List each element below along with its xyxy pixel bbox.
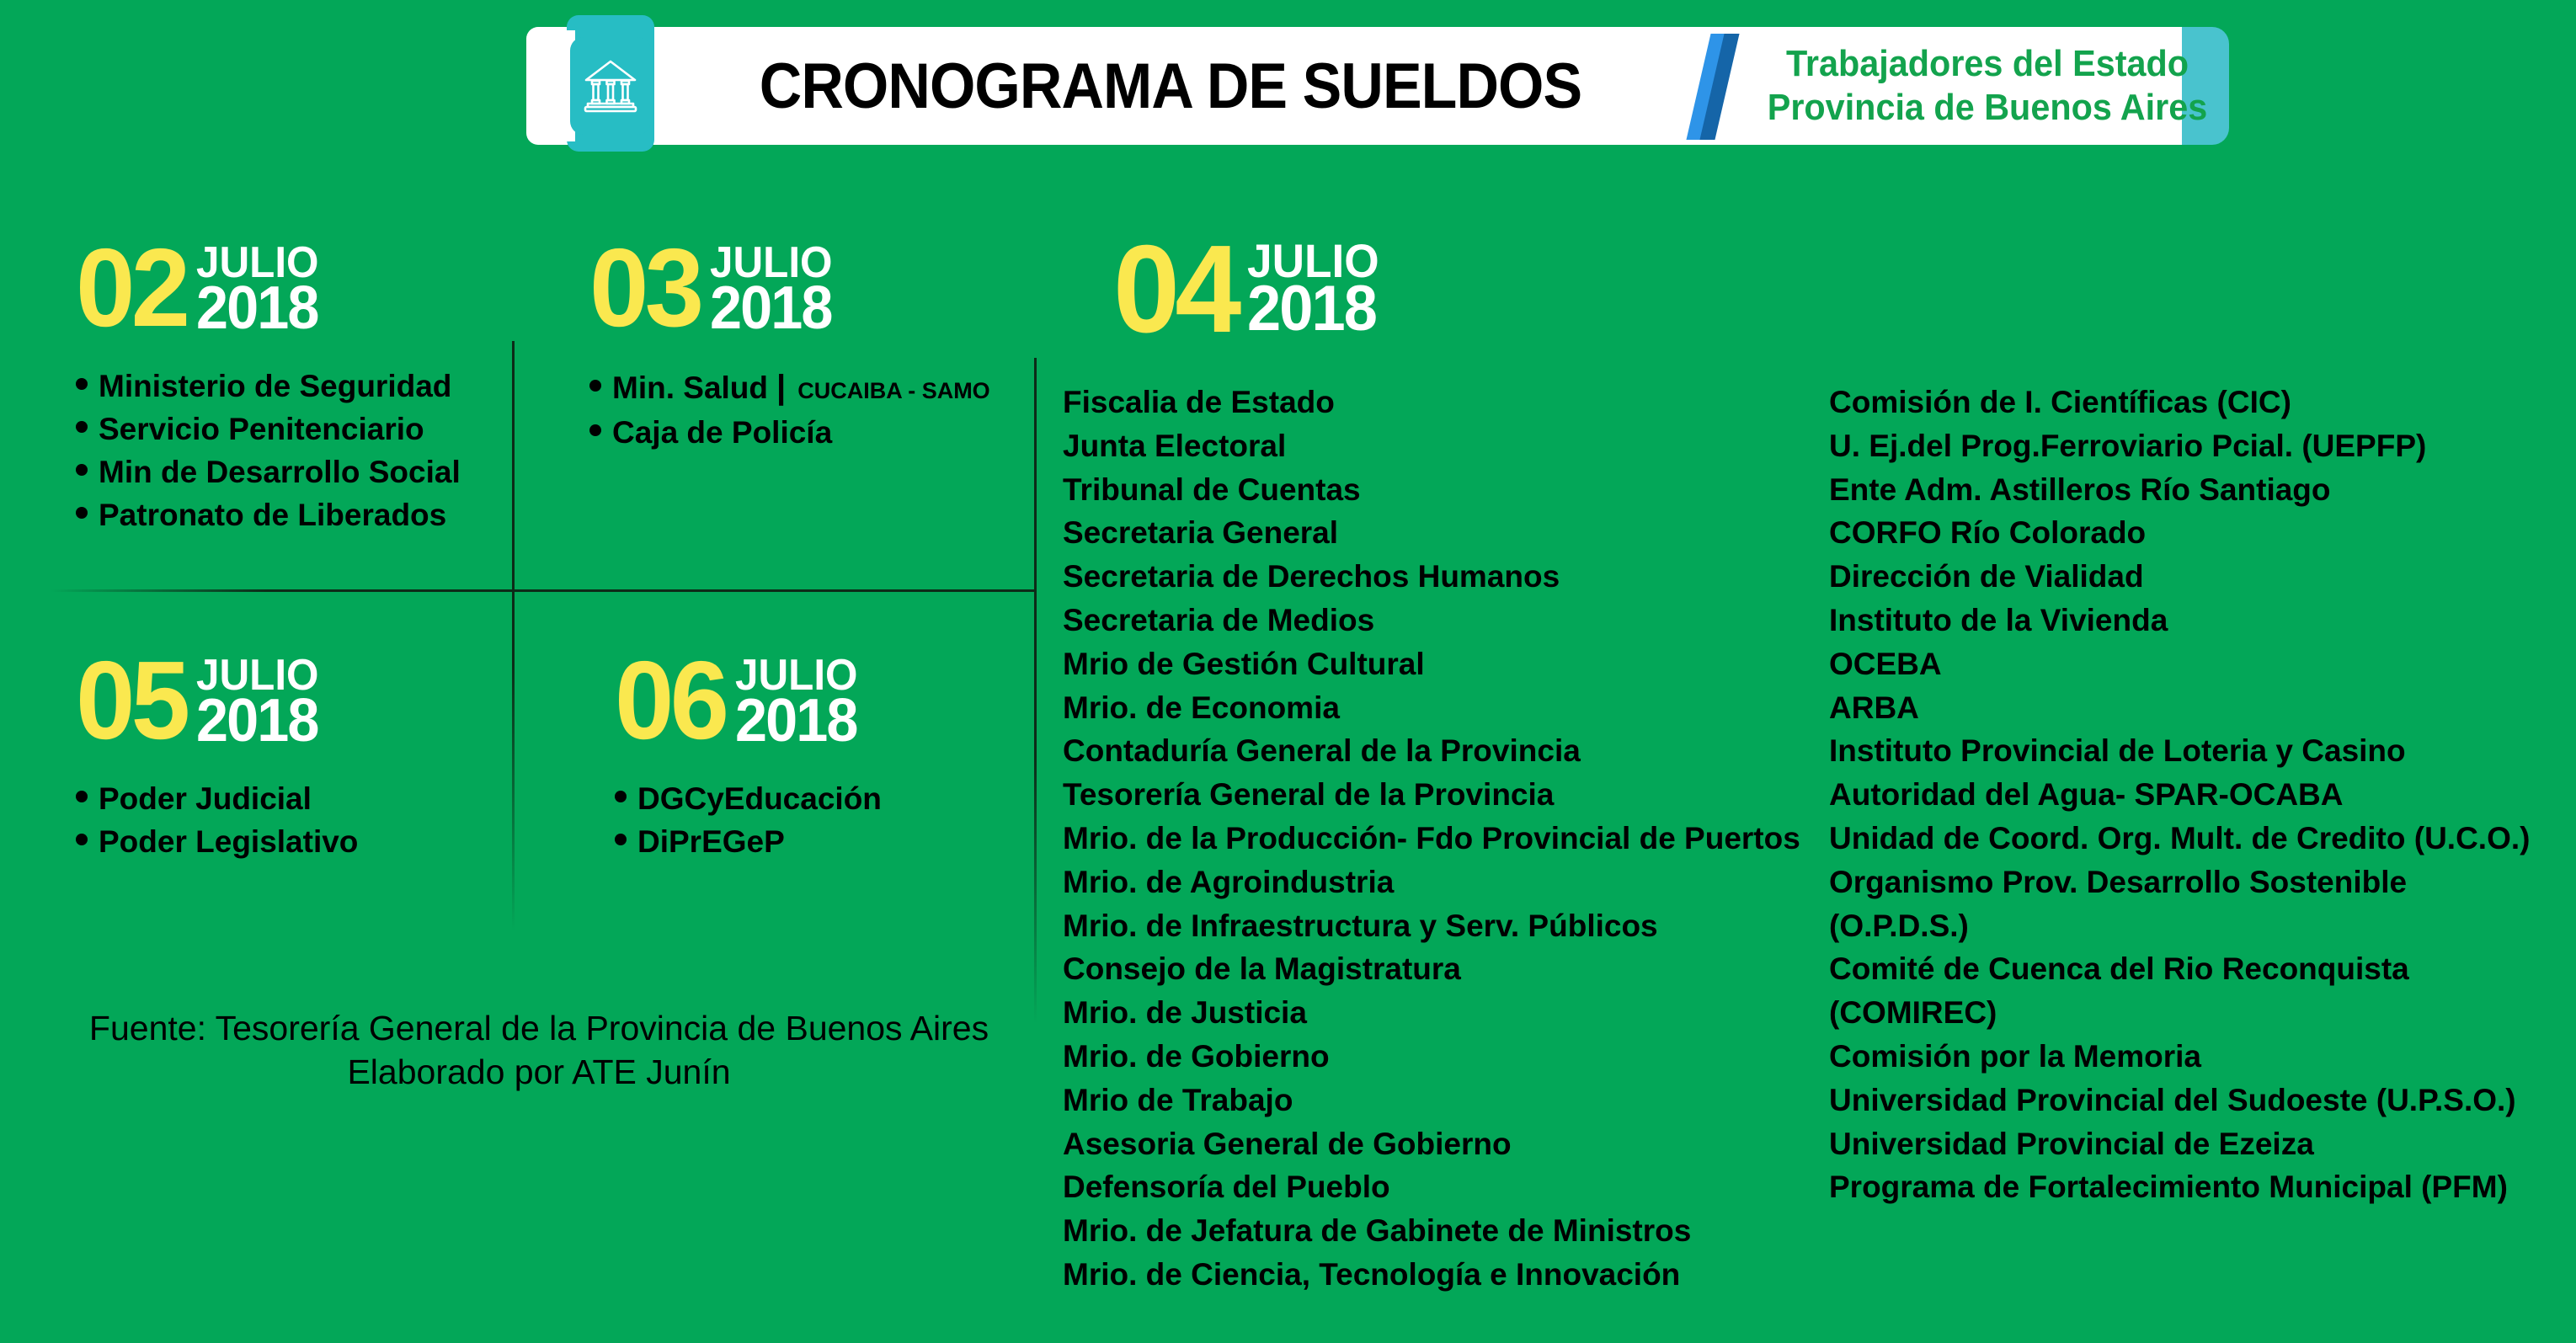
source-line-1: Fuente: Tesorería General de la Provinci… (89, 1009, 989, 1047)
list-item: Mrio de Gestión Cultural (1063, 642, 1829, 686)
list-item: Patronato de Liberados (76, 493, 461, 536)
page-title: CRONOGRAMA DE SUELDOS (717, 27, 1624, 145)
bullet-dot-icon (589, 424, 601, 436)
list-item: Instituto Provincial de Loteria y Casino (1829, 729, 2553, 773)
year-label: 2018 (710, 280, 832, 336)
list-item: Min de Desarrollo Social (76, 450, 461, 493)
list-item: Mrio. de Economia (1063, 686, 1829, 730)
list-item: Min. Salud | CUCAIBA - SAMO (589, 365, 990, 411)
list-item: CORFO Río Colorado (1829, 511, 2553, 555)
list-item: Consejo de la Magistratura (1063, 947, 1829, 991)
list-item-sublabel: CUCAIBA - SAMO (797, 376, 990, 407)
list-item: Organismo Prov. Desarrollo Sostenible (O… (1829, 861, 2553, 948)
list-item: Unidad de Coord. Org. Mult. de Credito (… (1829, 817, 2553, 861)
date-block-02: 02 JULIO 2018 Ministerio de Seguridad Se… (76, 240, 461, 536)
list-item: Instituto de la Vivienda (1829, 599, 2553, 642)
year-label: 2018 (196, 280, 318, 336)
organization-list: Poder Judicial Poder Legislativo (76, 777, 358, 863)
list-item-label: Caja de Policía (612, 411, 832, 454)
list-item: Tribunal de Cuentas (1063, 468, 1829, 512)
bullet-dot-icon (615, 834, 627, 845)
slash-divider-icon (1699, 34, 1749, 140)
date-block-03: 03 JULIO 2018 Min. Salud | CUCAIBA - SAM… (589, 240, 990, 454)
date-header: 03 JULIO 2018 (589, 240, 990, 336)
list-item: Ente Adm. Astilleros Río Santiago (1829, 468, 2553, 512)
year-label: 2018 (1247, 280, 1379, 338)
list-item-label: Servicio Penitenciario (99, 408, 424, 450)
list-item: Fiscalia de Estado (1063, 381, 1829, 424)
organization-list: Ministerio de Seguridad Servicio Peniten… (76, 365, 461, 536)
list-item: Secretaria de Medios (1063, 599, 1829, 642)
organization-column-right: Comisión de I. Científicas (CIC) U. Ej.d… (1829, 381, 2553, 1297)
list-item: Universidad Provincial del Sudoeste (U.P… (1829, 1079, 2553, 1122)
date-header: 05 JULIO 2018 (76, 653, 358, 749)
list-item: Defensoría del Pueblo (1063, 1165, 1829, 1209)
day-number: 03 (589, 240, 700, 336)
list-item: Programa de Fortalecimiento Municipal (P… (1829, 1165, 2553, 1209)
month-year: JULIO 2018 (196, 653, 325, 749)
bullet-dot-icon (76, 834, 88, 845)
date-block-05: 05 JULIO 2018 Poder Judicial Poder Legis… (76, 653, 358, 863)
year-label: 2018 (196, 693, 318, 749)
list-item-label: Min. Salud (612, 366, 768, 409)
list-item: Mrio de Trabajo (1063, 1079, 1829, 1122)
header-banner: CRONOGRAMA DE SUELDOS Trabajadores del E… (526, 27, 2217, 145)
horizontal-divider (51, 589, 1036, 592)
date-header: 04 JULIO 2018 (1113, 236, 1386, 343)
list-item: Universidad Provincial de Ezeiza (1829, 1122, 2553, 1166)
date-header: 02 JULIO 2018 (76, 240, 461, 336)
day-number: 02 (76, 240, 186, 336)
list-item-label: DiPrEGeP (637, 820, 785, 863)
organization-lists-04: Fiscalia de Estado Junta Electoral Tribu… (1063, 381, 2562, 1297)
bullet-dot-icon (76, 378, 88, 390)
banner-subtitle-line-1: Trabajadores del Estado (1786, 42, 2189, 86)
list-item: Secretaria de Derechos Humanos (1063, 555, 1829, 599)
list-item: Junta Electoral (1063, 424, 1829, 468)
list-item: Comité de Cuenca del Rio Reconquista (CO… (1829, 947, 2553, 1035)
bullet-dot-icon (76, 421, 88, 433)
list-item-label: Poder Judicial (99, 777, 312, 820)
bullet-dot-icon (76, 507, 88, 519)
month-year: JULIO 2018 (735, 653, 864, 749)
month-year: JULIO 2018 (196, 240, 325, 336)
list-item: Mrio. de Ciencia, Tecnología e Innovació… (1063, 1253, 1829, 1297)
bullet-dot-icon (76, 464, 88, 476)
list-item-label: DGCyEducación (637, 777, 882, 820)
vertical-divider-center (1034, 358, 1037, 1023)
organization-list: Min. Salud | CUCAIBA - SAMO Caja de Poli… (589, 365, 990, 454)
list-item: Mrio. de Gobierno (1063, 1035, 1829, 1079)
separator-pipe: | (776, 365, 786, 411)
list-item: Mrio. de Agroindustria (1063, 861, 1829, 904)
month-year: JULIO 2018 (710, 240, 839, 336)
date-block-06: 06 JULIO 2018 DGCyEducación DiPrEGeP (615, 653, 882, 863)
list-item: Poder Judicial (76, 777, 358, 820)
list-item-label: Ministerio de Seguridad (99, 365, 451, 408)
list-item: U. Ej.del Prog.Ferroviario Pcial. (UEPFP… (1829, 424, 2553, 468)
day-number: 06 (615, 653, 725, 749)
organization-list: DGCyEducación DiPrEGeP (615, 777, 882, 863)
list-item: DiPrEGeP (615, 820, 882, 863)
banner-subtitle: Trabajadores del Estado Provincia de Bue… (1778, 39, 2197, 133)
list-item-label: Min de Desarrollo Social (99, 450, 461, 493)
bullet-dot-icon (615, 791, 627, 802)
list-item: OCEBA (1829, 642, 2553, 686)
list-item: DGCyEducación (615, 777, 882, 820)
date-header: 06 JULIO 2018 (615, 653, 882, 749)
day-number: 05 (76, 653, 186, 749)
banner-subtitle-line-2: Provincia de Buenos Aires (1768, 86, 2208, 130)
list-item-label: Poder Legislativo (99, 820, 358, 863)
list-item: Secretaria General (1063, 511, 1829, 555)
list-item: Contaduría General de la Provincia (1063, 729, 1829, 773)
banner-white-left-edge (526, 30, 575, 141)
vertical-divider-left (512, 341, 515, 930)
year-label: 2018 (735, 693, 857, 749)
list-item: Tesorería General de la Provincia (1063, 773, 1829, 817)
organization-column-left: Fiscalia de Estado Junta Electoral Tribu… (1063, 381, 1829, 1297)
list-item: Comisión de I. Científicas (CIC) (1829, 381, 2553, 424)
bullet-dot-icon (589, 380, 601, 392)
bullet-dot-icon (76, 791, 88, 802)
bank-building-icon (570, 37, 651, 135)
list-item-label: Patronato de Liberados (99, 493, 446, 536)
source-line-2: Elaborado por ATE Junín (46, 1050, 1032, 1094)
list-item: Mrio. de Jefatura de Gabinete de Ministr… (1063, 1209, 1829, 1253)
list-item: Ministerio de Seguridad (76, 365, 461, 408)
list-item: ARBA (1829, 686, 2553, 730)
list-item: Caja de Policía (589, 411, 990, 454)
list-item: Asesoria General de Gobierno (1063, 1122, 1829, 1166)
list-item: Mrio. de la Producción- Fdo Provincial d… (1063, 817, 1829, 861)
list-item: Comisión por la Memoria (1829, 1035, 2553, 1079)
list-item: Servicio Penitenciario (76, 408, 461, 450)
list-item: Poder Legislativo (76, 820, 358, 863)
list-item: Mrio. de Justicia (1063, 991, 1829, 1035)
list-item: Autoridad del Agua- SPAR-OCABA (1829, 773, 2553, 817)
source-note: Fuente: Tesorería General de la Provinci… (46, 1006, 1032, 1095)
list-item: Mrio. de Infraestructura y Serv. Público… (1063, 904, 1829, 948)
day-number: 04 (1113, 236, 1237, 343)
list-item: Dirección de Vialidad (1829, 555, 2553, 599)
month-year: JULIO 2018 (1247, 236, 1386, 338)
date-block-04: 04 JULIO 2018 (1113, 236, 1386, 343)
